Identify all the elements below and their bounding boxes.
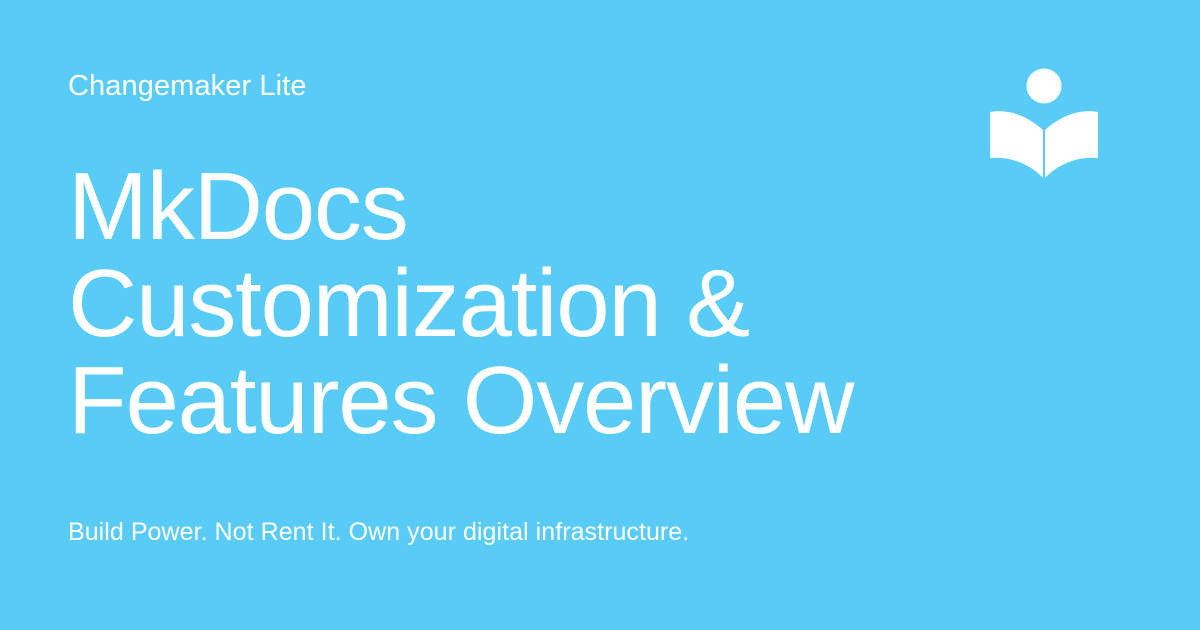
open-book-reader-icon: [988, 68, 1100, 192]
social-share-banner: Changemaker Lite MkDocs Customization & …: [0, 0, 1200, 630]
page-title-line-1: MkDocs: [68, 158, 968, 255]
site-name-eyebrow: Changemaker Lite: [68, 70, 307, 103]
page-title: MkDocs Customization & Features Overview: [68, 158, 968, 449]
page-title-line-3: Features Overview: [68, 352, 968, 449]
tagline: Build Power. Not Rent It. Own your digit…: [68, 516, 689, 549]
page-title-line-2: Customization &: [68, 255, 968, 352]
